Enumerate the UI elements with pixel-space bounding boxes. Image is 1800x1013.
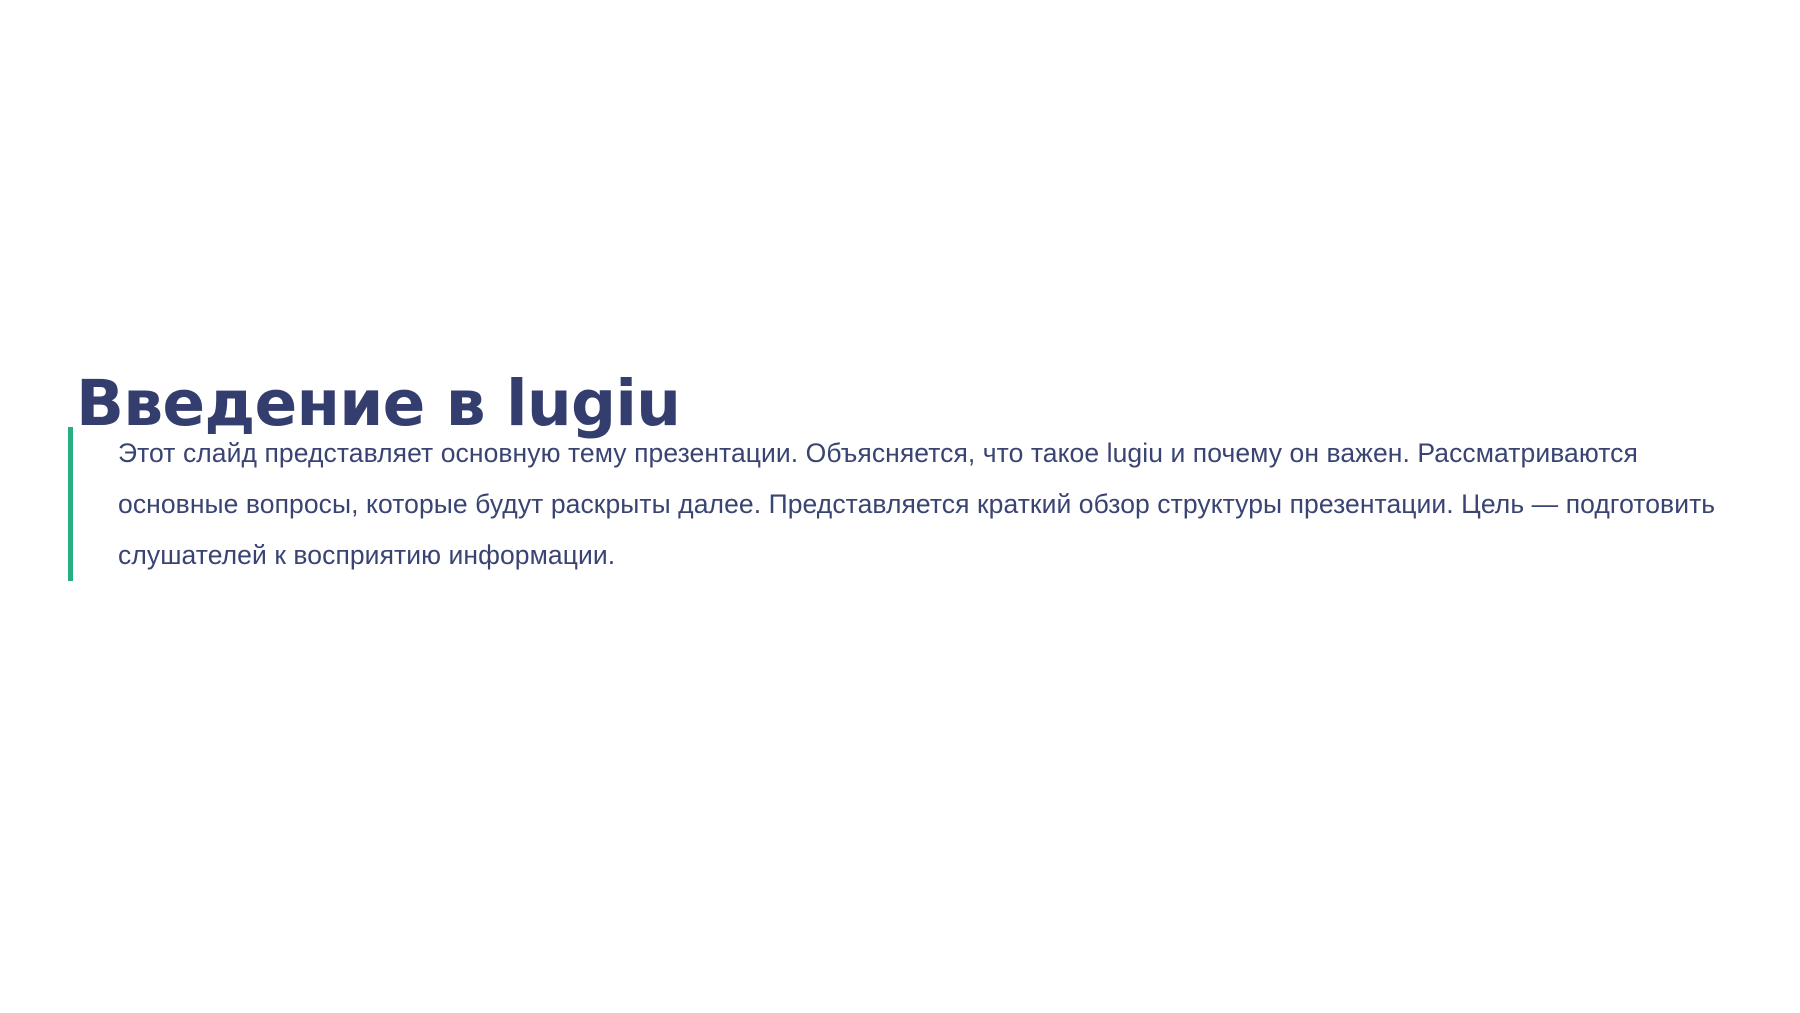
body-block: Этот слайд представляет основную тему пр… (68, 427, 1728, 581)
slide-body-paragraph: Этот слайд представляет основную тему пр… (118, 428, 1718, 581)
presentation-slide: Введение в lugiu Этот слайд представляет… (0, 0, 1800, 1013)
slide-content: Введение в lugiu Этот слайд представляет… (0, 0, 1800, 1013)
body-text-wrap: Этот слайд представляет основную тему пр… (73, 427, 1728, 581)
